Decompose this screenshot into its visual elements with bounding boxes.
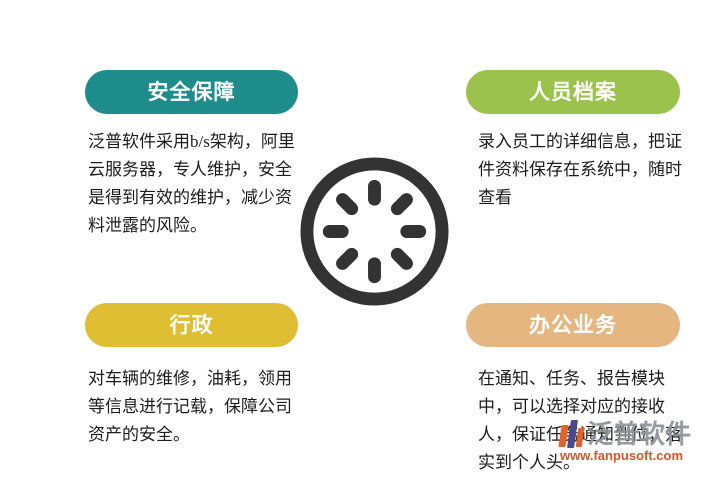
paragraph-safety: 泛普软件采用b/s架构，阿里云服务器，专人维护，安全是得到有效的维护，减少资料泄… xyxy=(88,128,306,240)
pill-safety: 安全保障 xyxy=(85,70,298,114)
loading-spinner-svg xyxy=(295,152,454,311)
pill-personnel-file: 人员档案 xyxy=(466,70,680,114)
pill-administration-label: 行政 xyxy=(170,315,214,336)
infographic-canvas: 安全保障 泛普软件采用b/s架构，阿里云服务器，专人维护，安全是得到有效的维护，… xyxy=(0,0,712,468)
pill-office-business-label: 办公业务 xyxy=(529,315,617,336)
loading-spinner-icon xyxy=(295,152,454,311)
pill-office-business: 办公业务 xyxy=(466,303,680,347)
paragraph-office-business: 在通知、任务、报告模块中，可以选择对应的接收人，保证任务通知到位，落实到个人头。 xyxy=(478,365,696,477)
paragraph-administration: 对车辆的维修，油耗，领用等信息进行记载，保障公司资产的安全。 xyxy=(88,365,308,449)
pill-administration: 行政 xyxy=(85,303,298,347)
pill-safety-label: 安全保障 xyxy=(148,82,236,103)
pill-personnel-file-label: 人员档案 xyxy=(529,82,617,103)
paragraph-personnel-file: 录入员工的详细信息，把证件资料保存在系统中，随时查看 xyxy=(478,128,693,212)
